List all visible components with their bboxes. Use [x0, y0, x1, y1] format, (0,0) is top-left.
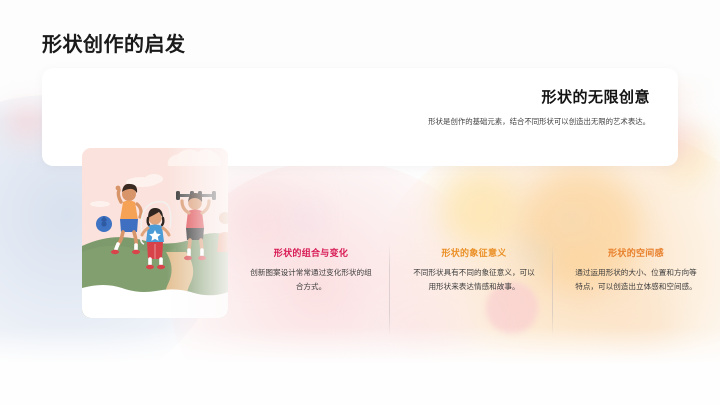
decor-circle-lilac — [296, 206, 322, 232]
sports-illustration — [82, 148, 228, 318]
feature-heading-1: 形状的组合与变化 — [249, 246, 373, 259]
column-divider-2 — [552, 244, 553, 336]
decor-circle-peach-bottom — [600, 292, 674, 366]
feature-column-2: 形状的象征意义 不同形状具有不同的象征意义，可以用形状来表达情感和故事。 — [412, 246, 536, 294]
page-title: 形状创作的启发 — [42, 28, 186, 57]
hero-body-text: 形状是创作的基础元素，结合不同形状可以创造出无限的艺术表达。 — [320, 115, 650, 129]
column-divider-1 — [389, 244, 390, 336]
decor-circle-blue-tiny — [566, 216, 578, 228]
feature-column-3: 形状的空间感 通过运用形状的大小、位置和方向等特点，可以创造出立体感和空间感。 — [574, 246, 698, 294]
feature-body-3: 通过运用形状的大小、位置和方向等特点，可以创造出立体感和空间感。 — [574, 266, 698, 294]
feature-body-1: 创新图案设计常常通过变化形状的组合方式。 — [249, 266, 373, 294]
slide-canvas: 形状创作的启发 形状的无限创意 形状是创作的基础元素，结合不同形状可以创造出无限… — [0, 0, 720, 405]
feature-heading-3: 形状的空间感 — [574, 246, 698, 259]
feature-column-1: 形状的组合与变化 创新图案设计常常通过变化形状的组合方式。 — [249, 246, 373, 294]
feature-heading-2: 形状的象征意义 — [412, 246, 536, 259]
decor-circle-pink-bottom — [380, 300, 470, 390]
feature-body-2: 不同形状具有不同的象征意义，可以用形状来表达情感和故事。 — [412, 266, 536, 294]
decor-circle-yellow-mid — [441, 170, 519, 248]
hero-heading: 形状的无限创意 — [541, 86, 650, 107]
bottom-white-gradient — [0, 327, 720, 405]
